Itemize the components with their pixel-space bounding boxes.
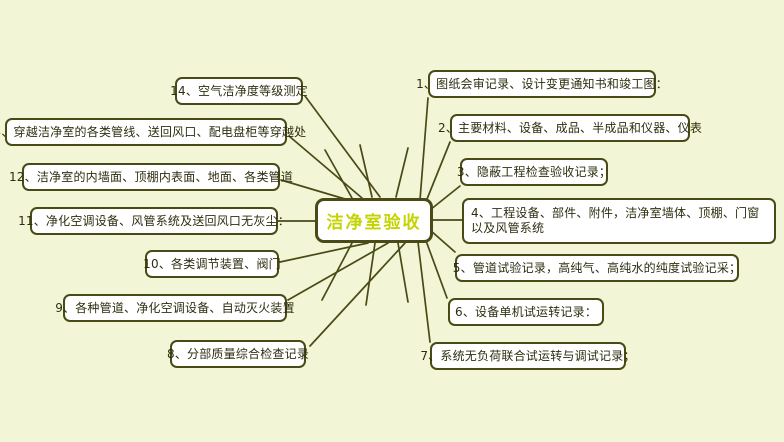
connector-to-branch-1 bbox=[420, 98, 428, 200]
branch-node-6-label: 6、设备单机试运转记录： bbox=[455, 305, 597, 320]
branch-node-12[interactable]: 12、洁净室的内墙面、顶棚内表面、地面、各类管道 bbox=[22, 163, 280, 191]
branch-node-5[interactable]: 5、管道试验记录，高纯气、高纯水的纯度试验记采； bbox=[455, 254, 739, 282]
branch-node-3-label: 3、隐蔽工程检查验收记录； bbox=[457, 165, 611, 180]
branch-node-10-label: 10、各类调节装置、阀门 bbox=[143, 257, 281, 272]
branch-node-9[interactable]: 9、各种管道、净化空调设备、自动灭火装置 bbox=[63, 294, 287, 322]
branch-node-14[interactable]: 14、空气洁净度等级测定 bbox=[175, 77, 303, 105]
mind-map-canvas: 洁净室验收 1、图纸会审记录、设计变更通知书和竣工图： 2、主要材料、设备、成品… bbox=[0, 0, 784, 442]
connector-fan-top-left bbox=[325, 150, 352, 198]
branch-node-2[interactable]: 2、主要材料、设备、成品、半成品和仪器、仪表 bbox=[450, 114, 690, 142]
branch-node-14-label: 14、空气洁净度等级测定 bbox=[170, 84, 308, 99]
connector-fan-top-mid bbox=[360, 145, 372, 197]
connector-fan-top-right bbox=[396, 148, 408, 197]
connector-to-branch-5 bbox=[430, 230, 455, 252]
center-node[interactable]: 洁净室验收 bbox=[315, 198, 433, 243]
branch-node-8[interactable]: 8、分部质量综合检查记录 bbox=[170, 340, 306, 368]
branch-node-1[interactable]: 1、图纸会审记录、设计变更通知书和竣工图： bbox=[428, 70, 656, 98]
connector-to-branch-13 bbox=[289, 136, 362, 198]
branch-node-11-label: 11、净化空调设备、风管系统及送回风口无灰尘： bbox=[18, 214, 290, 229]
connector-to-branch-7 bbox=[418, 242, 430, 342]
connector-to-branch-10 bbox=[280, 243, 368, 262]
branch-node-10[interactable]: 10、各类调节装置、阀门 bbox=[145, 250, 279, 278]
branch-node-13-label: 13、穿越洁净室的各类管线、送回风口、配电盘柜等穿越处 bbox=[0, 125, 306, 140]
branch-node-7[interactable]: 7、系统无负荷联合试运转与调试记录； bbox=[430, 342, 626, 370]
branch-node-13[interactable]: 13、穿越洁净室的各类管线、送回风口、配电盘柜等穿越处 bbox=[5, 118, 287, 146]
connector-to-branch-3 bbox=[430, 186, 460, 210]
connector-fan-bottom-right bbox=[398, 243, 408, 302]
center-node-label: 洁净室验收 bbox=[327, 208, 422, 233]
branch-node-4-label: 4、工程设备、部件、附件，洁净室墙体、顶棚、门窗以及风管系统 bbox=[471, 206, 767, 236]
branch-node-12-label: 12、洁净室的内墙面、顶棚内表面、地面、各类管道 bbox=[9, 170, 293, 185]
branch-node-1-label: 1、图纸会审记录、设计变更通知书和竣工图： bbox=[416, 77, 668, 92]
connector-to-branch-6 bbox=[425, 238, 447, 298]
branch-node-2-label: 2、主要材料、设备、成品、半成品和仪器、仪表 bbox=[438, 121, 702, 136]
branch-node-11[interactable]: 11、净化空调设备、风管系统及送回风口无灰尘： bbox=[30, 207, 278, 235]
branch-node-6[interactable]: 6、设备单机试运转记录： bbox=[448, 298, 604, 326]
branch-node-3[interactable]: 3、隐蔽工程检查验收记录； bbox=[460, 158, 608, 186]
branch-node-8-label: 8、分部质量综合检查记录 bbox=[167, 347, 309, 362]
branch-node-9-label: 9、各种管道、净化空调设备、自动灭火装置 bbox=[55, 301, 295, 316]
connector-to-branch-2 bbox=[425, 142, 450, 204]
branch-node-4[interactable]: 4、工程设备、部件、附件，洁净室墙体、顶棚、门窗以及风管系统 bbox=[462, 198, 776, 244]
branch-node-7-label: 7、系统无负荷联合试运转与调试记录； bbox=[420, 349, 635, 364]
branch-node-5-label: 5、管道试验记录，高纯气、高纯水的纯度试验记采； bbox=[453, 261, 741, 276]
